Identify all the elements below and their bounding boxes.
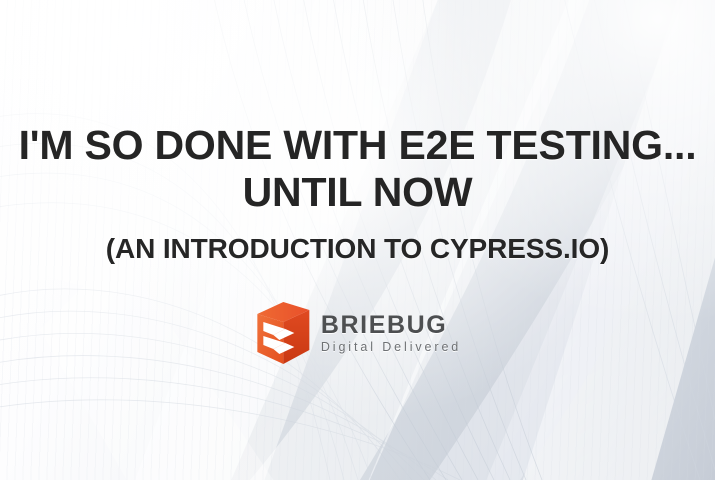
- logo-wordmark: BRIEBUG Digital Delivered: [321, 311, 461, 355]
- presentation-slide: I'M SO DONE WITH E2E TESTING... UNTIL NO…: [0, 0, 715, 480]
- logo-tagline: Digital Delivered: [321, 339, 461, 355]
- slide-subtitle: (AN INTRODUCTION TO CYPRESS.IO): [0, 232, 715, 266]
- slide-title: I'M SO DONE WITH E2E TESTING... UNTIL NO…: [0, 122, 715, 216]
- briebug-cube-chevron-icon: [254, 302, 312, 364]
- slide-content: I'M SO DONE WITH E2E TESTING... UNTIL NO…: [0, 0, 715, 480]
- briebug-logo: BRIEBUG Digital Delivered: [254, 302, 461, 364]
- logo-company-name: BRIEBUG: [321, 313, 461, 338]
